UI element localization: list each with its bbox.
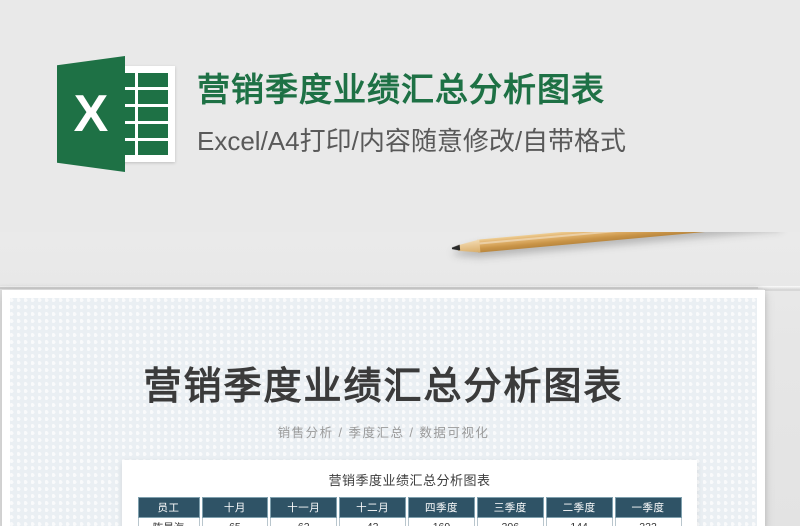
table-cell-value: 169	[408, 518, 475, 526]
table-cell-value: 42	[339, 518, 406, 526]
pencil-graphite-tip	[452, 245, 461, 252]
table-header-cell[interactable]: 十一月	[270, 497, 337, 518]
banner-text-block: 营销季度业绩汇总分析图表 Excel/A4打印/内容随意修改/自带格式	[197, 69, 626, 158]
table-header-cell[interactable]: 十二月	[339, 497, 406, 518]
table-row[interactable]: 陈晨海 65 62 42 169 206 144 222	[138, 518, 682, 526]
pencil	[451, 232, 781, 256]
pencil-body	[477, 232, 781, 253]
excel-grid-cell	[138, 90, 169, 104]
excel-grid-cell	[138, 141, 169, 155]
excel-logo-letter: X	[57, 56, 125, 172]
table-cell-value: 65	[202, 518, 269, 526]
table-body: 陈晨海 65 62 42 169 206 144 222	[138, 518, 682, 526]
document-title: 营销季度业绩汇总分析图表	[10, 366, 757, 410]
excel-logo: X	[55, 56, 179, 172]
excel-grid-cell	[138, 107, 169, 121]
promo-banner: X 营销季度业绩汇总分析图表 Excel/A4打印/内容随意修改/自带格式	[0, 0, 800, 232]
table-header-cell[interactable]: 员工	[138, 497, 200, 518]
table-header-cell[interactable]: 二季度	[546, 497, 613, 518]
table-header-cell[interactable]: 一季度	[615, 497, 682, 518]
pencil-sharpened-cone	[457, 239, 480, 254]
table-cell-value: 144	[546, 518, 613, 526]
screenshot-root: X 营销季度业绩汇总分析图表 Excel/A4打印/内容随意修改/自带格式 营销…	[0, 0, 800, 526]
excel-grid-cell	[138, 124, 169, 138]
document-sheet-inner: 营销季度业绩汇总分析图表 销售分析 / 季度汇总 / 数据可视化 营销季度业绩汇…	[10, 298, 757, 526]
table-header: 员工 十月 十一月 十二月 四季度 三季度 二季度 一季度	[138, 497, 682, 518]
desk-scene: 营销季度业绩汇总分析图表 销售分析 / 季度汇总 / 数据可视化 营销季度业绩汇…	[0, 232, 800, 526]
performance-table: 员工 十月 十一月 十二月 四季度 三季度 二季度 一季度	[136, 497, 684, 526]
table-card: 营销季度业绩汇总分析图表 员工 十月 十一月 十二月 四季度 三季度 二季度	[122, 460, 697, 526]
banner-title: 营销季度业绩汇总分析图表	[197, 69, 626, 110]
table-caption: 营销季度业绩汇总分析图表	[122, 470, 697, 489]
banner-content: X 营销季度业绩汇总分析图表 Excel/A4打印/内容随意修改/自带格式	[55, 56, 626, 172]
table-cell-value: 222	[615, 518, 682, 526]
document-sheet: 营销季度业绩汇总分析图表 销售分析 / 季度汇总 / 数据可视化 营销季度业绩汇…	[2, 290, 765, 526]
table-header-row: 员工 十月 十一月 十二月 四季度 三季度 二季度 一季度	[138, 497, 682, 518]
table-header-cell[interactable]: 三季度	[477, 497, 544, 518]
excel-grid-cell	[138, 73, 169, 87]
banner-subtitle: Excel/A4打印/内容随意修改/自带格式	[197, 125, 626, 159]
breadcrumb: 销售分析 / 季度汇总 / 数据可视化	[10, 422, 757, 441]
table-cell-employee: 陈晨海	[138, 518, 200, 526]
table-cell-value: 62	[270, 518, 337, 526]
table-header-cell[interactable]: 四季度	[408, 497, 475, 518]
table-header-cell[interactable]: 十月	[202, 497, 269, 518]
table-cell-value: 206	[477, 518, 544, 526]
